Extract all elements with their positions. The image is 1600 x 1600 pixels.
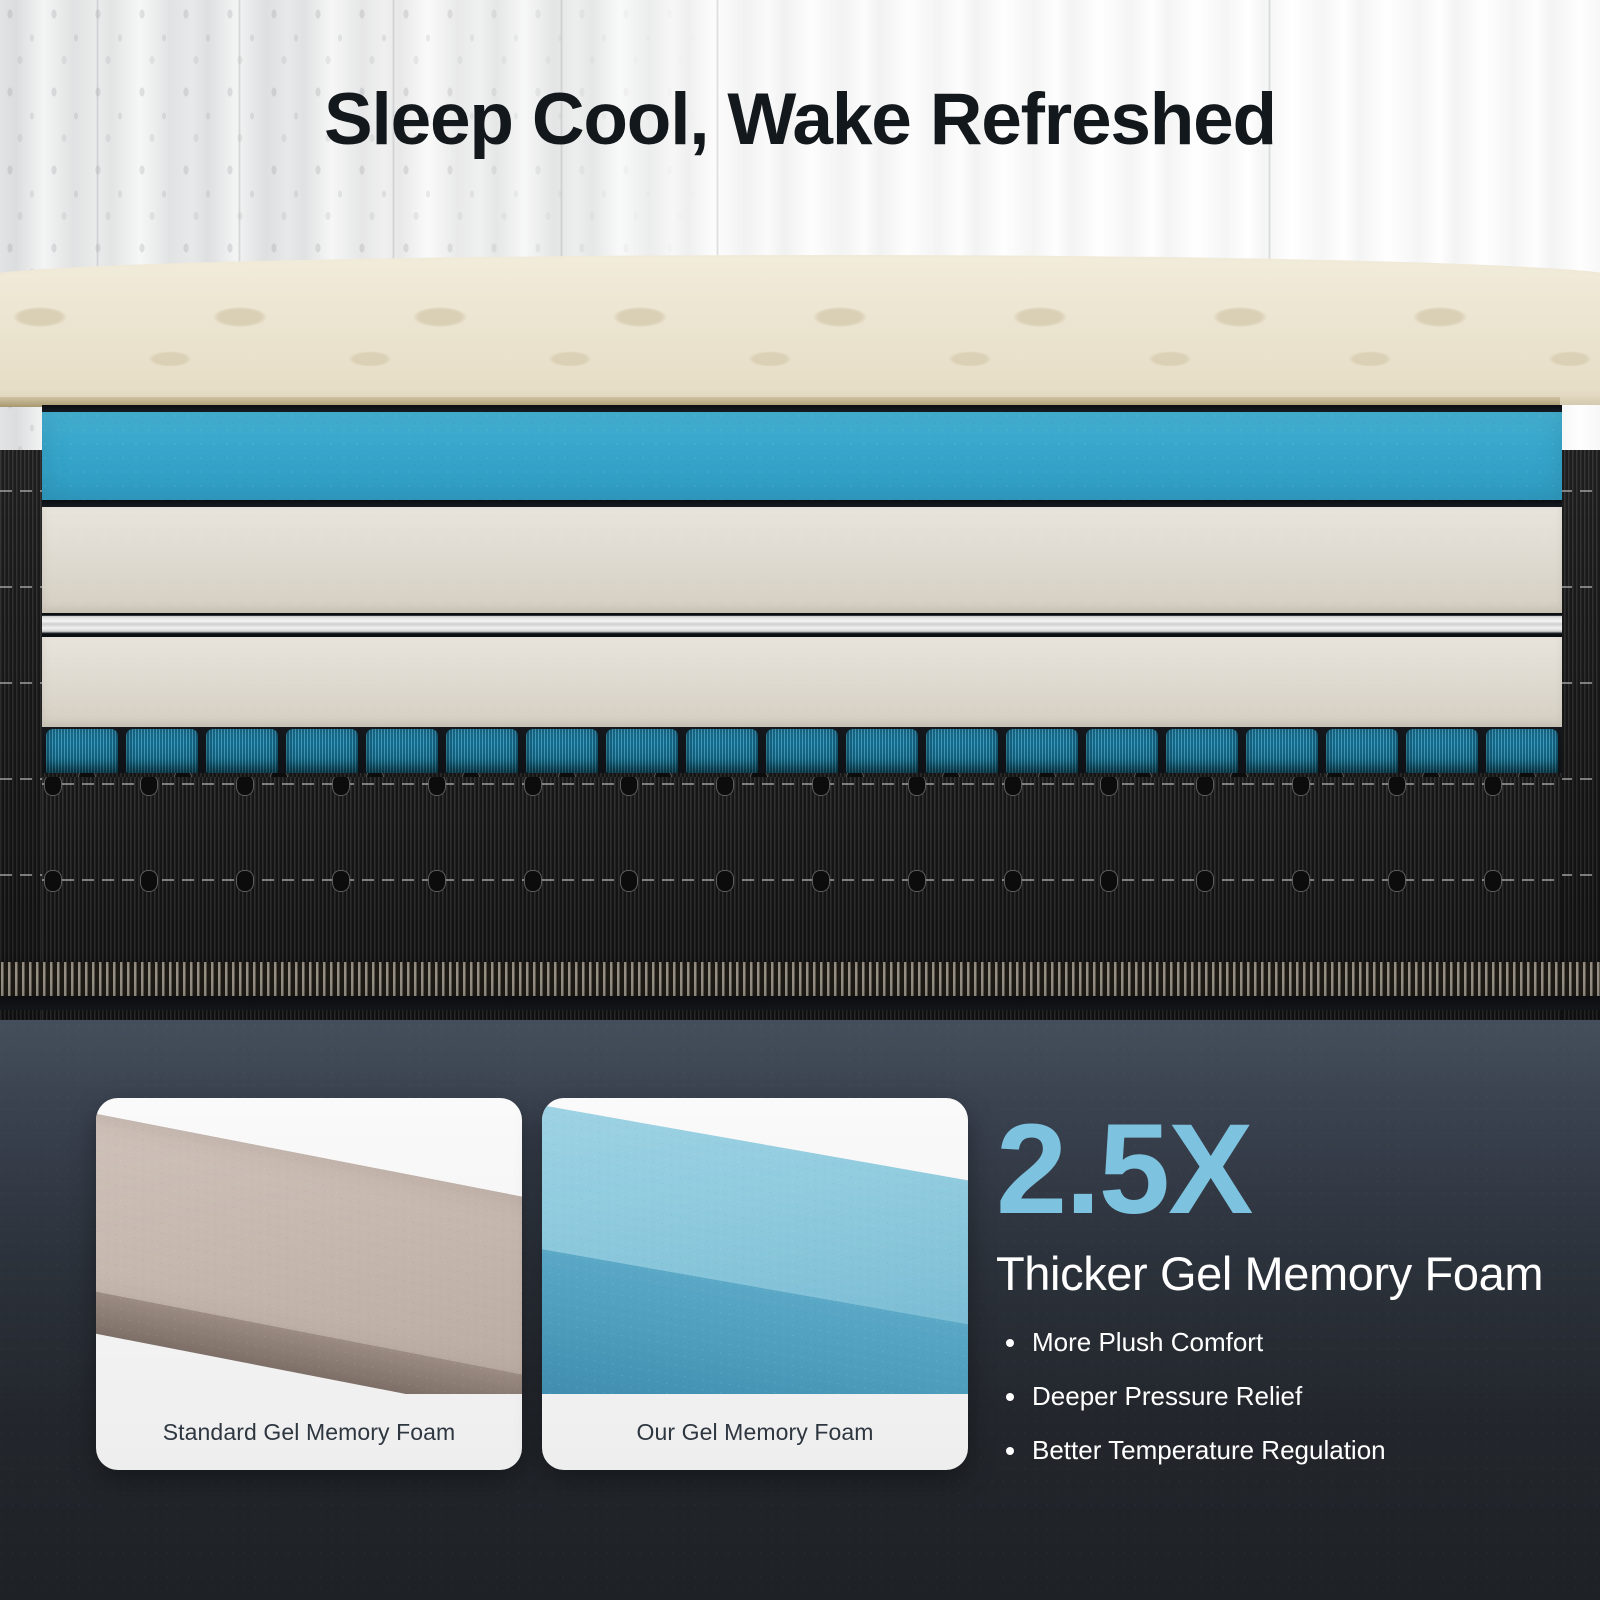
- pocket-coil: [1006, 729, 1078, 773]
- eyelet-motif: [1004, 870, 1022, 892]
- eyelet-motif: [332, 777, 350, 796]
- eyelet-motif: [428, 777, 446, 796]
- eyelet-motif: [1196, 777, 1214, 796]
- stat-subtitle: Thicker Gel Memory Foam: [996, 1246, 1586, 1301]
- card-standard-gel-memory-foam: Standard Gel Memory Foam: [96, 1098, 522, 1470]
- mattress-piping-band: [0, 962, 1600, 998]
- eyelet-motif: [140, 870, 158, 892]
- pocket-coil: [1326, 729, 1398, 773]
- eyelet-motif: [1100, 777, 1118, 796]
- pocket-coil: [526, 729, 598, 773]
- pocket-coil: [926, 729, 998, 773]
- pocket-coil: [366, 729, 438, 773]
- eyelet-motif: [1484, 777, 1502, 796]
- pocket-coil: [606, 729, 678, 773]
- pocket-coil: [1086, 729, 1158, 773]
- eyelet-motif: [716, 777, 734, 796]
- eyelet-motif: [428, 870, 446, 892]
- pocket-coil: [446, 729, 518, 773]
- product-infographic: Sleep Cool, Wake Refreshed Standard Gel …: [0, 0, 1600, 1600]
- eyelet-motif: [1292, 870, 1310, 892]
- pocket-coil: [686, 729, 758, 773]
- eyelet-motif: [1004, 777, 1022, 796]
- pocket-coil: [1486, 729, 1558, 773]
- layer-separator: [42, 405, 1562, 412]
- pocket-coil: [46, 729, 118, 773]
- our-foam-photo: [542, 1098, 968, 1394]
- eyelet-motif: [1100, 870, 1118, 892]
- benefit-bullet: Better Temperature Regulation: [996, 1435, 1586, 1466]
- quilted-top-cover: [0, 255, 1600, 405]
- layer-separator: [42, 500, 1562, 507]
- mattress-cross-section: [0, 255, 1600, 1020]
- pocket-coil: [126, 729, 198, 773]
- pocket-coil: [1246, 729, 1318, 773]
- eyelet-motif: [44, 777, 62, 796]
- eyelet-motif: [908, 777, 926, 796]
- eyelet-motif: [1196, 870, 1214, 892]
- pocket-coil: [846, 729, 918, 773]
- eyelet-motif: [236, 870, 254, 892]
- pocket-coil: [206, 729, 278, 773]
- eyelet-motif: [524, 777, 542, 796]
- stat-multiplier: 2.5X: [996, 1106, 1586, 1234]
- eyelet-motif: [1484, 870, 1502, 892]
- eyelet-motif: [812, 777, 830, 796]
- eyelet-motif: [1388, 870, 1406, 892]
- gel-memory-foam-layer: [42, 412, 1562, 500]
- stitch-row: [42, 879, 1562, 881]
- benefit-bullet: Deeper Pressure Relief: [996, 1381, 1586, 1412]
- benefit-copy-block: 2.5X Thicker Gel Memory Foam More Plush …: [996, 1106, 1586, 1489]
- pocket-coil: [1406, 729, 1478, 773]
- eyelet-motif: [524, 870, 542, 892]
- comfort-foam-upper-layer: [42, 507, 1562, 613]
- eyelet-motif: [812, 870, 830, 892]
- pocket-coil-row: [42, 727, 1562, 773]
- divider-strip: [42, 613, 1562, 637]
- eyelet-motif: [620, 870, 638, 892]
- eyelet-motif: [620, 777, 638, 796]
- stitch-row: [42, 783, 1562, 785]
- pocket-coil: [286, 729, 358, 773]
- benefit-bullet: More Plush Comfort: [996, 1327, 1586, 1358]
- page-title: Sleep Cool, Wake Refreshed: [0, 78, 1600, 161]
- card-label-ours: Our Gel Memory Foam: [542, 1394, 968, 1470]
- eyelet-motif: [332, 870, 350, 892]
- pocket-coil: [766, 729, 838, 773]
- pocket-coil: [1166, 729, 1238, 773]
- eyelet-motif: [140, 777, 158, 796]
- comfort-foam-lower-layer: [42, 637, 1562, 727]
- eyelet-motif: [908, 870, 926, 892]
- eyelet-motif: [236, 777, 254, 796]
- foam-layer-stack: [42, 405, 1562, 773]
- card-label-standard: Standard Gel Memory Foam: [96, 1394, 522, 1470]
- eyelet-motif: [1292, 777, 1310, 796]
- standard-foam-photo: [96, 1098, 522, 1394]
- eyelet-motif: [44, 870, 62, 892]
- eyelet-motif: [716, 870, 734, 892]
- eyelet-motif: [1388, 777, 1406, 796]
- mattress-base-shadow: [0, 996, 1600, 1010]
- foam-comparison-cards: Standard Gel Memory Foam Our Gel Memory …: [96, 1098, 968, 1470]
- card-our-gel-memory-foam: Our Gel Memory Foam: [542, 1098, 968, 1470]
- benefit-bullet-list: More Plush ComfortDeeper Pressure Relief…: [996, 1327, 1586, 1466]
